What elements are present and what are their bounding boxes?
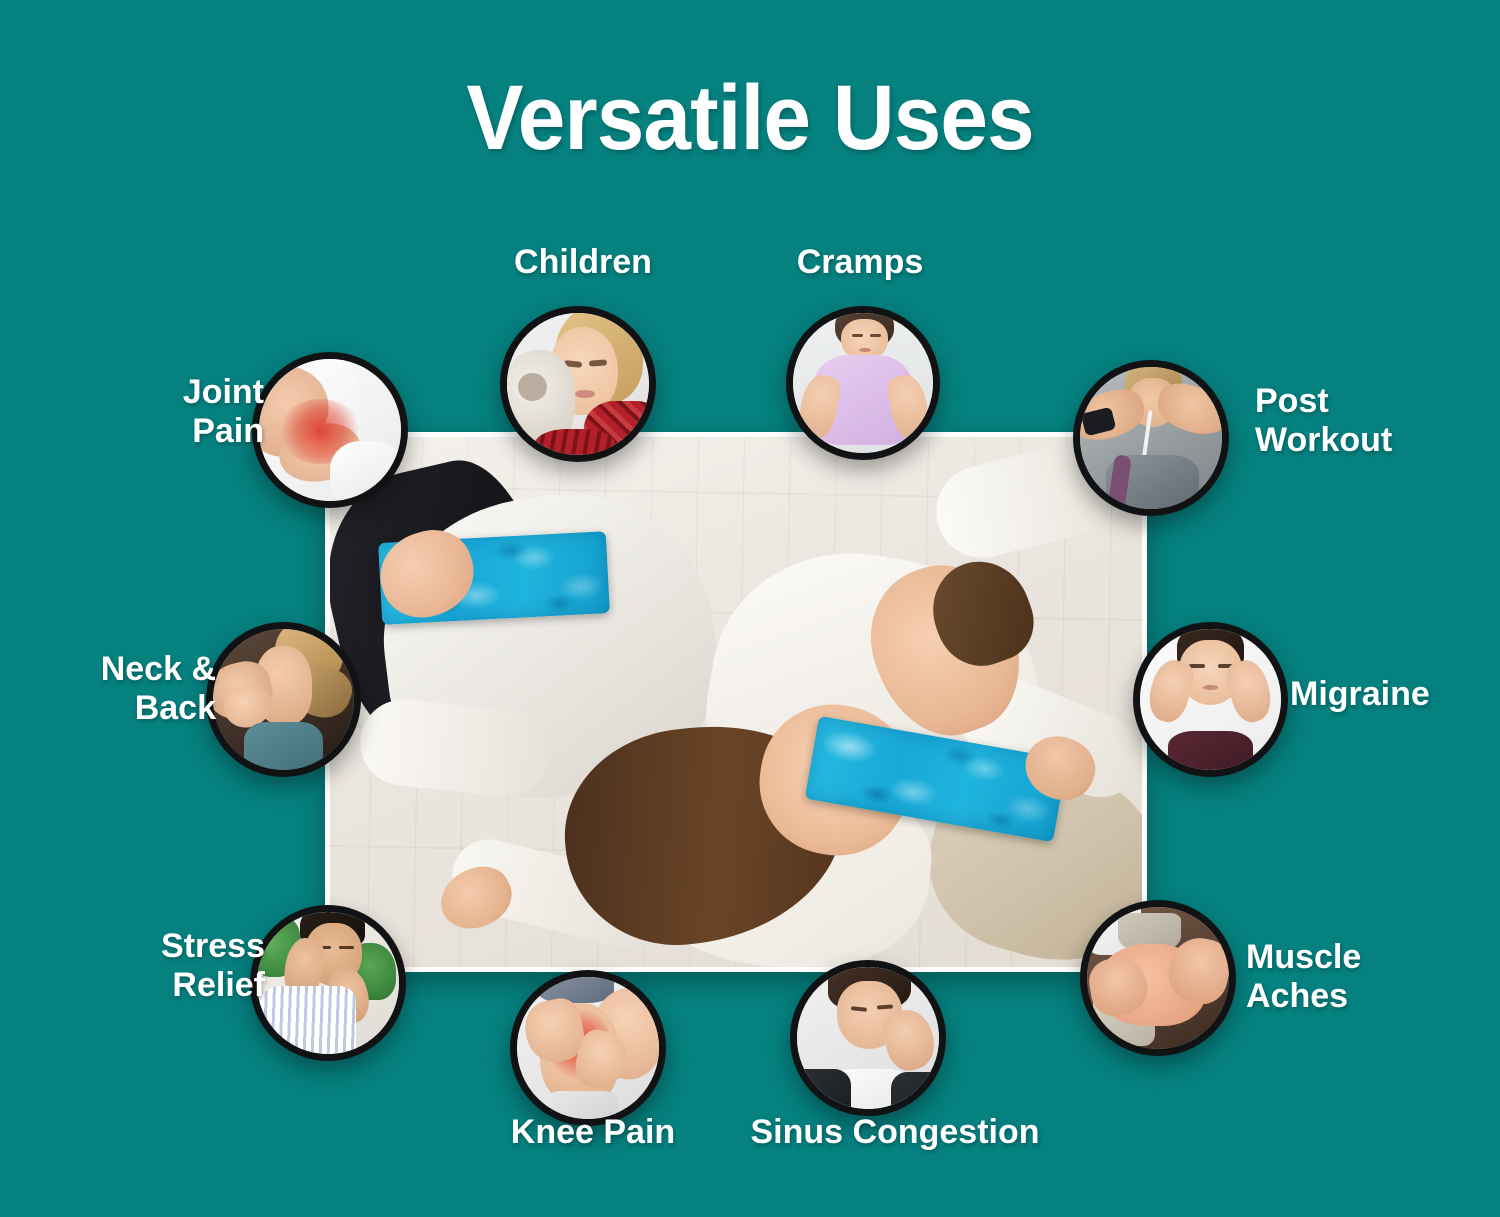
use-bubble-stress-relief[interactable]: [250, 905, 406, 1061]
use-label-sinus-congestion: Sinus Congestion: [700, 1113, 1090, 1152]
headache-temples-photo: [1140, 629, 1281, 770]
shoulder-massage-photo: [1087, 907, 1229, 1049]
use-bubble-children[interactable]: [500, 306, 656, 462]
use-label-children: Children: [468, 243, 698, 282]
use-bubble-post-workout[interactable]: [1073, 360, 1229, 516]
stomach-cramps-photo: [793, 313, 933, 453]
use-bubble-knee-pain[interactable]: [510, 970, 666, 1126]
use-label-cramps: Cramps: [745, 243, 975, 282]
use-label-stress-relief: Stress Relief: [105, 927, 265, 1005]
use-bubble-neck-and-back[interactable]: [206, 622, 361, 777]
use-label-joint-pain: Joint Pain: [104, 373, 264, 451]
page-title: Versatile Uses: [53, 72, 1448, 164]
use-bubble-migraine[interactable]: [1133, 622, 1288, 777]
use-bubble-muscle-aches[interactable]: [1080, 900, 1236, 1056]
use-label-knee-pain: Knee Pain: [473, 1113, 713, 1152]
child-sleeping-photo: [507, 313, 649, 455]
use-label-neck-and-back: Neck & Back: [56, 650, 216, 728]
center-product-photo: [325, 432, 1147, 972]
infographic-canvas: Versatile Uses: [0, 0, 1500, 1217]
use-bubble-cramps[interactable]: [786, 306, 940, 460]
athletic-woman-photo: [1080, 367, 1222, 509]
use-label-muscle-aches: Muscle Aches: [1246, 938, 1446, 1016]
neck-back-pain-photo: [213, 629, 354, 770]
sinus-pain-photo: [797, 967, 939, 1109]
use-label-migraine: Migraine: [1290, 675, 1490, 714]
use-bubble-joint-pain[interactable]: [252, 352, 408, 508]
knee-pain-photo: [517, 977, 659, 1119]
use-label-post-workout: Post Workout: [1255, 382, 1455, 460]
elbow-pain-photo: [259, 359, 401, 501]
stressed-man-photo: [257, 912, 399, 1054]
use-bubble-sinus-congestion[interactable]: [790, 960, 946, 1116]
